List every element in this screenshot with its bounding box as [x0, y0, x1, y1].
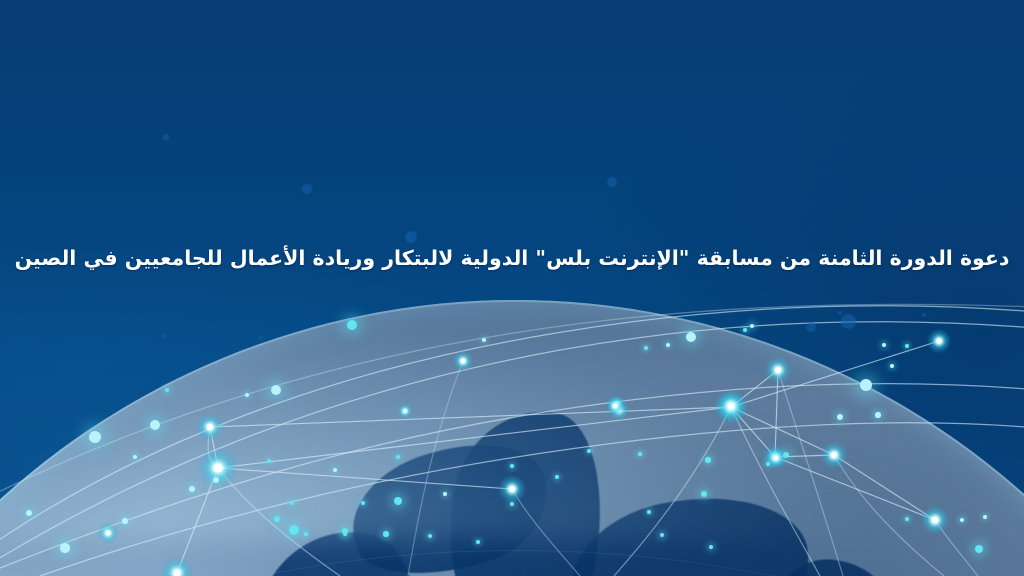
network-edge — [218, 407, 731, 468]
light-particle — [26, 510, 32, 516]
light-particle — [875, 412, 880, 417]
network-node — [509, 486, 515, 492]
light-particle — [396, 455, 400, 459]
network-nodes — [97, 328, 952, 576]
light-particle — [766, 462, 770, 466]
network-edge — [210, 407, 731, 427]
network-node — [775, 367, 781, 373]
light-particle — [841, 314, 856, 329]
network-overlay — [0, 0, 1024, 576]
network-node — [461, 359, 466, 364]
light-particle — [383, 531, 388, 536]
light-particle — [189, 486, 195, 492]
light-particle — [259, 335, 263, 339]
network-node — [932, 517, 938, 523]
light-particle — [686, 332, 696, 342]
light-particle — [638, 452, 642, 456]
light-particle — [60, 543, 69, 552]
light-particle — [510, 464, 514, 468]
network-node — [207, 424, 213, 430]
network-node — [936, 338, 941, 343]
light-particle — [607, 177, 617, 187]
light-particle — [743, 328, 747, 332]
network-node — [831, 452, 837, 458]
light-particle — [122, 518, 127, 523]
network-arcs — [0, 304, 1024, 576]
light-particle — [213, 477, 219, 483]
light-particle — [983, 515, 987, 519]
network-node — [774, 456, 779, 461]
light-particle — [890, 364, 894, 368]
light-particle — [405, 231, 417, 243]
light-particle — [150, 420, 160, 430]
light-particle — [837, 414, 843, 420]
light-particle — [274, 516, 280, 522]
light-particle — [701, 491, 707, 497]
light-particle — [922, 313, 926, 317]
network-edge — [834, 455, 935, 520]
network-node — [106, 531, 111, 536]
light-particle — [271, 385, 281, 395]
light-particle — [647, 510, 651, 514]
light-particle — [705, 457, 710, 462]
light-particle — [905, 517, 909, 521]
light-particle — [644, 346, 648, 350]
network-edge — [775, 457, 935, 520]
light-particle — [302, 184, 311, 193]
light-particle — [838, 311, 842, 315]
light-particle — [905, 344, 909, 348]
light-particle — [587, 449, 591, 453]
page-title: دعوة الدورة الثامنة من مسابقة "الإنترنت … — [0, 243, 1024, 273]
light-particle — [267, 459, 271, 463]
slide-canvas: دعوة الدورة الثامنة من مسابقة "الإنترنت … — [0, 0, 1024, 576]
light-particle — [482, 338, 486, 342]
light-particle — [476, 540, 480, 544]
network-node — [403, 409, 407, 413]
network-node — [728, 403, 735, 410]
network-node — [214, 464, 223, 473]
light-particle — [806, 322, 816, 332]
network-meridians — [208, 361, 978, 576]
light-particle — [304, 532, 308, 536]
light-particle — [555, 475, 559, 479]
light-particle — [666, 343, 670, 347]
network-edge — [731, 341, 939, 407]
light-particle — [163, 134, 169, 140]
network-node — [613, 404, 617, 408]
network-edge — [218, 468, 512, 489]
